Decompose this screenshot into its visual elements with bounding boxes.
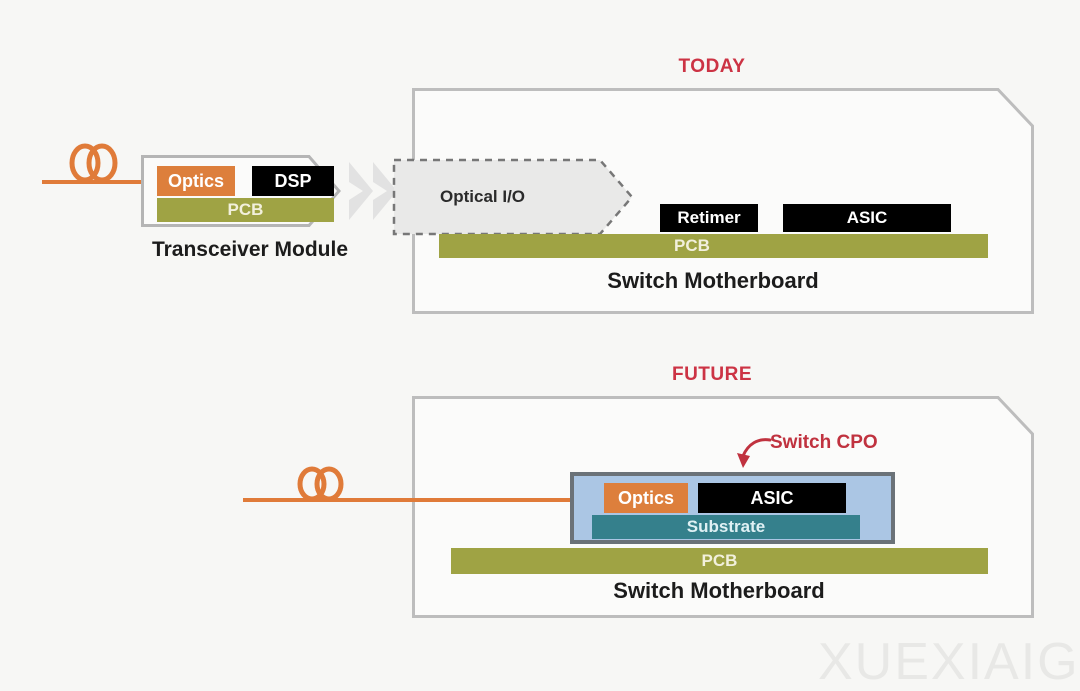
today-asic-block: ASIC bbox=[783, 204, 951, 232]
future-title: FUTURE bbox=[612, 364, 812, 386]
cpo-asic-block: ASIC bbox=[698, 483, 846, 513]
today-title: TODAY bbox=[612, 56, 812, 78]
cpo-optics-block: Optics bbox=[604, 483, 688, 513]
today-pcb-bar: PCB bbox=[439, 234, 988, 258]
transceiver-pcb-bar: PCB bbox=[157, 198, 334, 222]
fiber-coil-icon bbox=[64, 143, 124, 194]
today-retimer-block: Retimer bbox=[660, 204, 758, 232]
optical-io-label: Optical I/O bbox=[440, 187, 525, 207]
cpo-substrate-bar: Substrate bbox=[592, 515, 860, 539]
fiber-coil-icon-future bbox=[291, 466, 351, 513]
future-pcb-bar: PCB bbox=[451, 548, 988, 574]
watermark: XUEXIAIGC bbox=[818, 632, 1080, 691]
transceiver-optics-block: Optics bbox=[157, 166, 235, 196]
transceiver-module-label: Transceiver Module bbox=[120, 238, 380, 262]
future-motherboard-label: Switch Motherboard bbox=[449, 578, 989, 604]
diagram-canvas: TODAY Optics DSP PCB Transceiver Module bbox=[0, 0, 1080, 691]
switch-cpo-callout-label: Switch CPO bbox=[770, 432, 878, 454]
today-motherboard-label: Switch Motherboard bbox=[443, 268, 983, 294]
transceiver-dsp-block: DSP bbox=[252, 166, 334, 196]
